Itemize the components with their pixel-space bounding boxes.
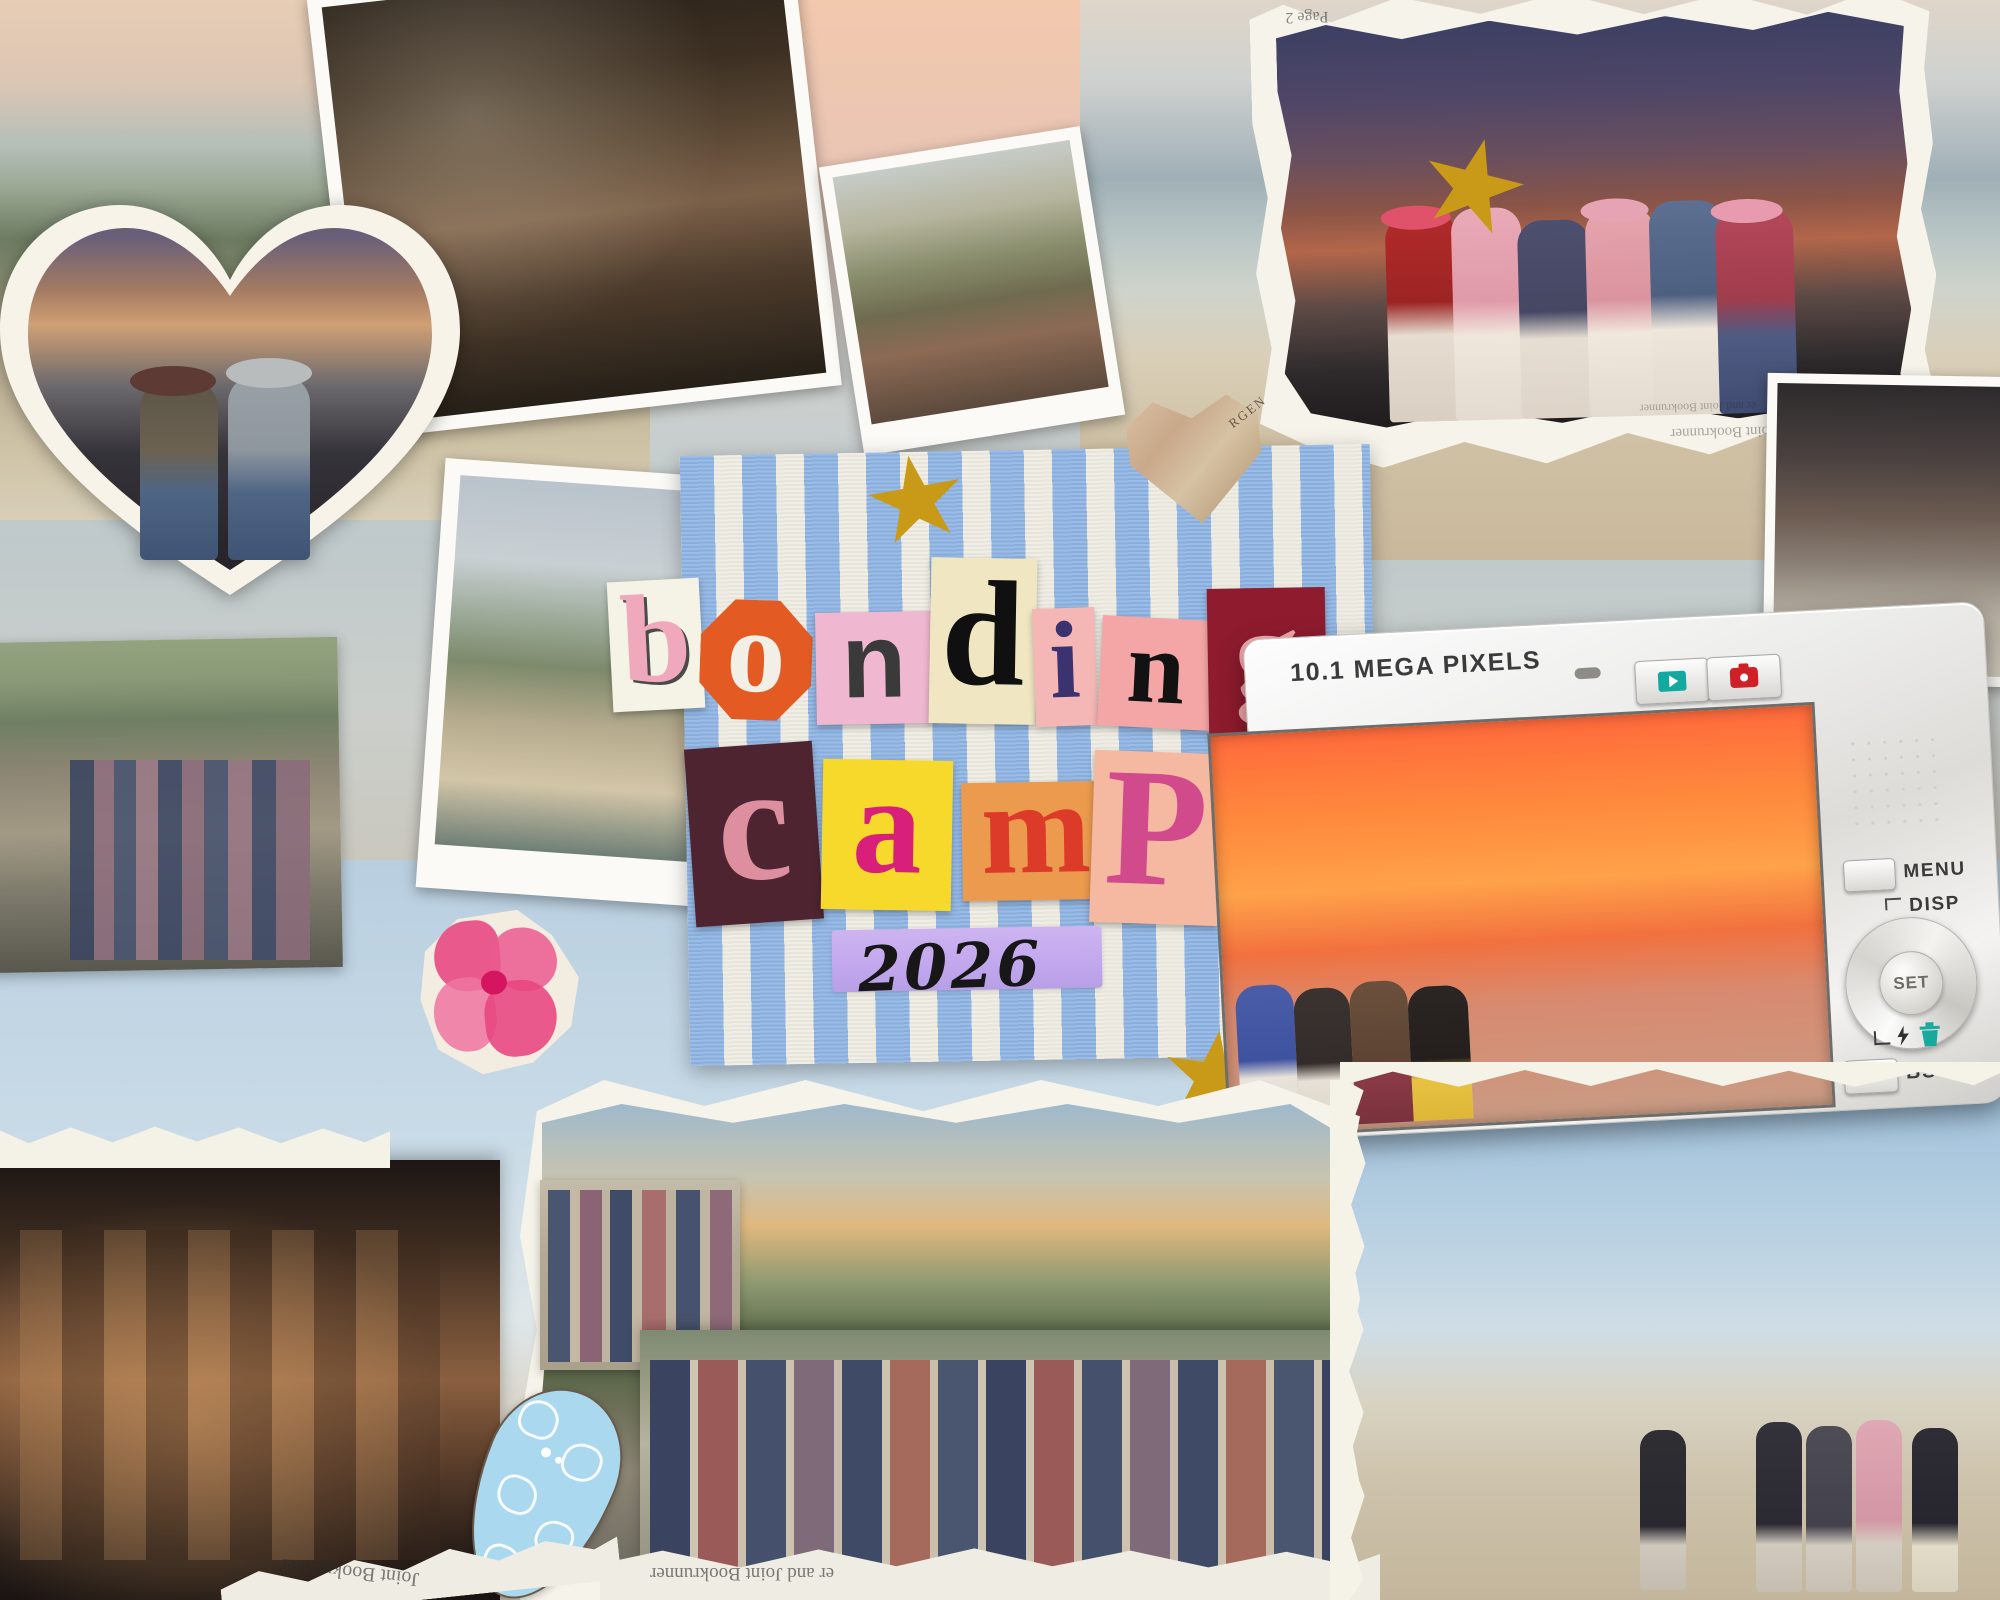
camera-device[interactable]: 10.1 MEGA PIXELS MENU DISP bbox=[1242, 601, 2000, 1139]
camera-icon bbox=[1730, 667, 1759, 688]
heart-figure-right bbox=[228, 375, 310, 560]
ransom-letter-P: P bbox=[1089, 750, 1223, 926]
photo-heart-cutout-two-girls-sunset[interactable] bbox=[0, 170, 470, 600]
heart-figure-left bbox=[140, 380, 218, 560]
year-2026-text: 2026 bbox=[857, 927, 1044, 1006]
photo-beach-right-walkers bbox=[1630, 1400, 2000, 1600]
hat-brown-icon bbox=[130, 366, 216, 396]
camera-disp-label: DISP bbox=[1909, 893, 1961, 918]
play-icon bbox=[1658, 671, 1687, 692]
camera-set-label: SET bbox=[1893, 972, 1930, 994]
camera-play-button[interactable] bbox=[1634, 657, 1710, 705]
camera-mic-hole bbox=[1574, 667, 1601, 679]
corner-bracket-icon bbox=[1874, 1030, 1891, 1045]
disp-corner-icon bbox=[1885, 898, 1902, 911]
photo-bonfire-figures bbox=[20, 1230, 440, 1560]
photo-small-polaroid-group-sunset[interactable] bbox=[819, 126, 1125, 456]
photo-inner bbox=[833, 140, 1109, 424]
group-figures bbox=[1384, 191, 1820, 422]
collage-canvas: Page 2 Joint Bookrunner er and Joint Boo… bbox=[0, 0, 2000, 1600]
paper-newsprint-right: er and Joint Bookrunner bbox=[1640, 398, 1757, 416]
camera-grip-dots bbox=[1844, 731, 1945, 836]
paper-bottom-newsprint-text: er and Joint Bookrunner bbox=[650, 1562, 834, 1584]
sticker-pink-halftone-flower bbox=[412, 904, 588, 1080]
camera-set-button[interactable]: SET bbox=[1878, 950, 1945, 1017]
ransom-letter-m: m bbox=[961, 781, 1111, 902]
camera-menu-button[interactable] bbox=[1843, 858, 1897, 893]
hat-grey-icon bbox=[226, 358, 312, 388]
camera-shutter-button[interactable] bbox=[1706, 654, 1782, 702]
ransom-letter-c: c bbox=[684, 741, 824, 927]
paper-newsprint-bottom: Joint Bookrunner bbox=[1670, 421, 1775, 441]
photo-stairs-figures bbox=[70, 760, 310, 960]
ransom-letter-b: b bbox=[607, 578, 706, 713]
ransom-letter-n1: n bbox=[815, 611, 933, 725]
paper-page-marker: Page 2 bbox=[1285, 7, 1329, 26]
trash-icon bbox=[1919, 1022, 1940, 1047]
ransom-letter-i: i bbox=[1032, 607, 1098, 727]
ransom-letter-n2: n bbox=[1097, 615, 1215, 731]
camera-menu-label: MENU bbox=[1903, 858, 1966, 883]
ransom-letter-a: a bbox=[821, 759, 954, 911]
ransom-letter-d: d bbox=[929, 557, 1038, 725]
